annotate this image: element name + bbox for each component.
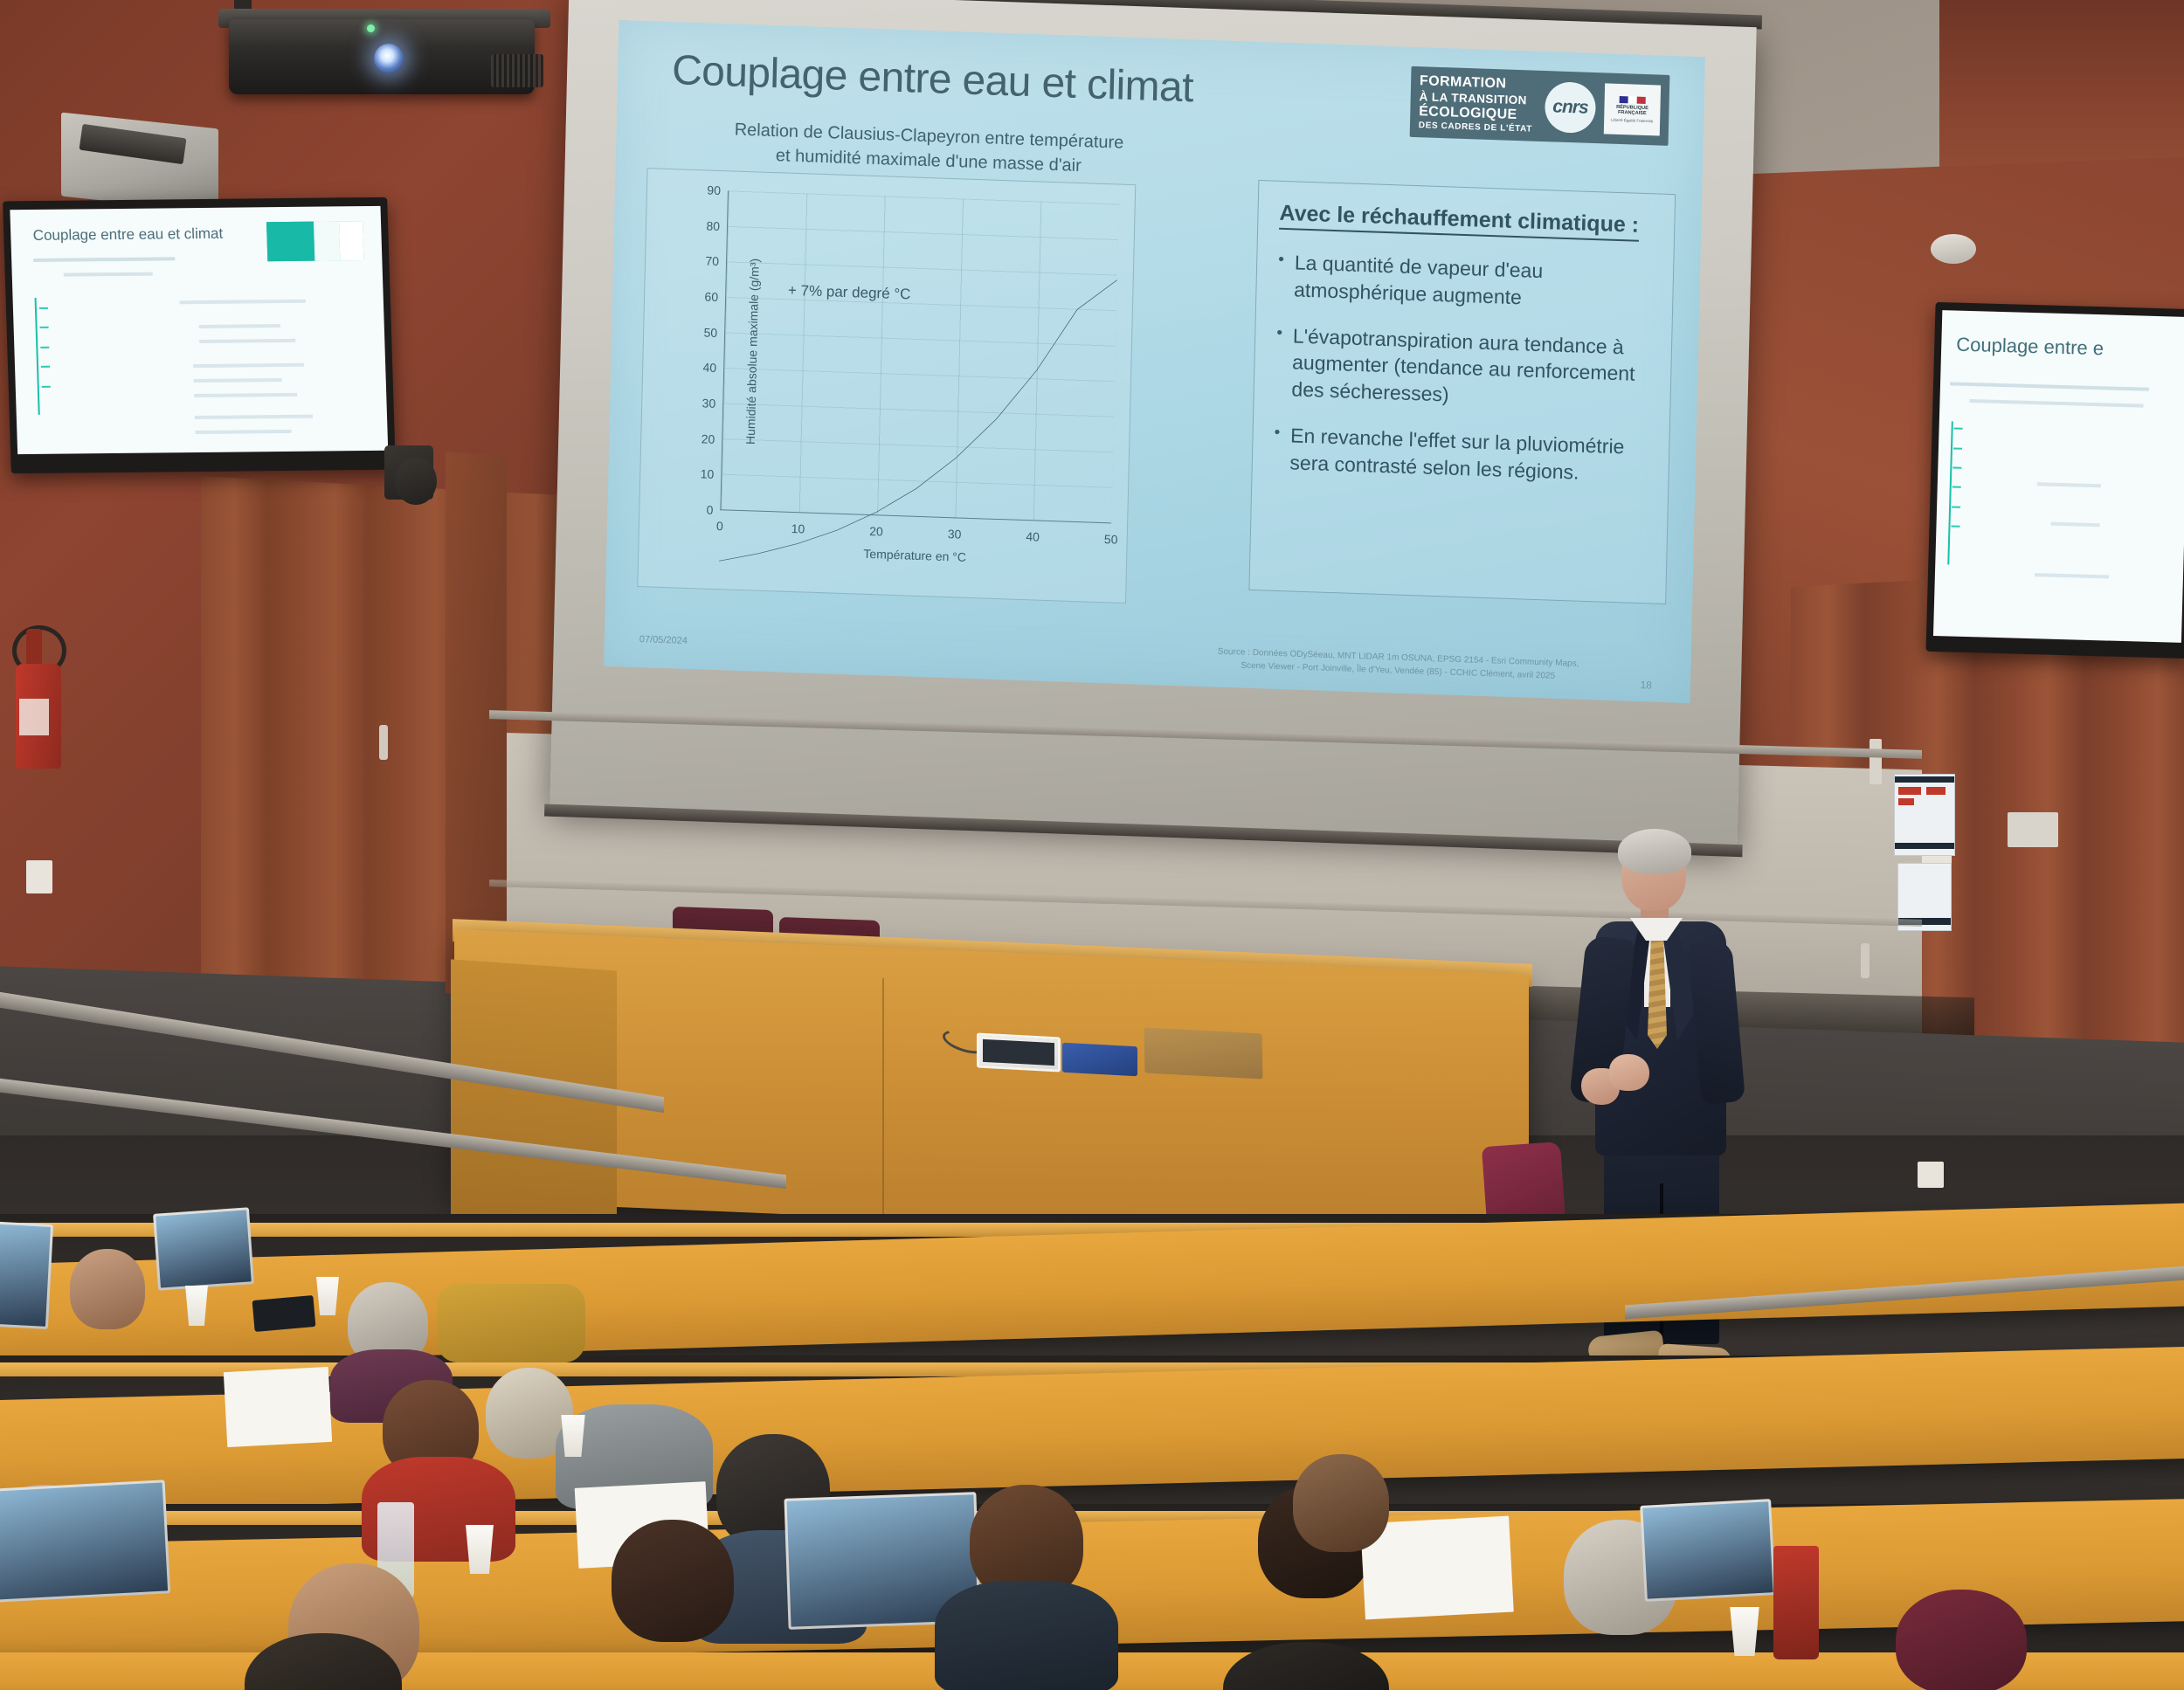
podium-blue-device[interactable] bbox=[1062, 1043, 1137, 1077]
notepad-1 bbox=[224, 1367, 332, 1447]
slide-source-credit: Source : Données ODySéeau, MNT LIDAR 1m … bbox=[1210, 645, 1586, 684]
chart-y-tick: 90 bbox=[707, 183, 721, 197]
side-door[interactable] bbox=[446, 452, 507, 998]
projector-vent-icon bbox=[491, 54, 543, 87]
slide-logo-lockup: FORMATION À LA TRANSITION ÉCOLOGIQUE DES… bbox=[1410, 66, 1670, 147]
chart-y-tick: 40 bbox=[702, 361, 716, 376]
panel-bullet-list: •La quantité de vapeur d'eau atmosphériq… bbox=[1273, 249, 1652, 488]
chart-y-tick: 80 bbox=[706, 218, 720, 233]
audience-laptop-3[interactable] bbox=[0, 1480, 170, 1603]
audience-head-1 bbox=[70, 1249, 145, 1329]
presentation-slide: Couplage entre eau et climat Relation de… bbox=[604, 20, 1705, 703]
chart-inner: Humidité absolue maximale (g/m³) Tempéra… bbox=[720, 190, 1118, 523]
projector-power-led-icon bbox=[367, 24, 375, 32]
french-flag-icon bbox=[1620, 96, 1646, 104]
panel-bullet-item: •L'évapotranspiration aura tendance à au… bbox=[1275, 321, 1650, 415]
monitor-left-chart-axis bbox=[35, 298, 40, 415]
bullet-marker-icon: • bbox=[1275, 321, 1282, 403]
bullet-marker-icon: • bbox=[1277, 249, 1284, 303]
slide-date: 07/05/2024 bbox=[639, 634, 688, 646]
monitor-right-screen: Couplage entre e bbox=[1933, 310, 2184, 643]
presenter-hair bbox=[1618, 829, 1691, 874]
monitor-left-screen: Couplage entre eau et climat bbox=[10, 206, 388, 454]
monitor-left-subtitle-line2 bbox=[64, 272, 153, 276]
audience-head-13 bbox=[1896, 1590, 2027, 1690]
audience-jacket-yellow bbox=[437, 1284, 585, 1362]
bullet-text: La quantité de vapeur d'eau atmosphériqu… bbox=[1294, 249, 1653, 315]
wall-outlet-right-icon bbox=[1918, 1162, 1944, 1188]
extinguisher-label bbox=[19, 699, 49, 735]
projector-lens-icon bbox=[374, 44, 404, 73]
presenter-tie bbox=[1648, 934, 1667, 1049]
phone-1[interactable] bbox=[252, 1295, 316, 1332]
audience-head-11 bbox=[1293, 1454, 1389, 1552]
bullet-text: L'évapotranspiration aura tendance à aug… bbox=[1291, 322, 1650, 415]
presenter-hand-right bbox=[1609, 1054, 1649, 1091]
chart-y-tick: 60 bbox=[704, 289, 718, 304]
audience-laptop-1[interactable] bbox=[153, 1207, 254, 1290]
monitor-left-subtitle-line bbox=[34, 257, 175, 262]
audience-head-8 bbox=[612, 1520, 734, 1642]
podium-seam bbox=[882, 978, 884, 1214]
confidence-monitor-right[interactable]: Couplage entre e bbox=[1925, 302, 2184, 659]
chart-y-tick: 10 bbox=[701, 467, 715, 482]
panel-heading: Avec le réchauffement climatique : bbox=[1279, 201, 1639, 242]
monitor-right-title: Couplage entre e bbox=[1956, 334, 2104, 361]
lecture-hall-scene: Couplage entre eau et climat Couplage e bbox=[0, 0, 2184, 1690]
extinguisher-neck bbox=[26, 629, 42, 667]
rf-motto: Liberté Égalité Fraternité bbox=[1611, 117, 1653, 123]
chart-y-tick: 0 bbox=[706, 503, 713, 517]
slide-title: Couplage entre eau et climat bbox=[672, 46, 1194, 112]
monitor-left-title: Couplage entre eau et climat bbox=[32, 224, 223, 244]
wall-speaker-cone-icon bbox=[395, 458, 437, 505]
audience-laptop-2[interactable] bbox=[0, 1221, 53, 1329]
chart-y-tick: 50 bbox=[703, 325, 717, 340]
door-handle-left-icon[interactable] bbox=[379, 725, 388, 760]
wall-plaque bbox=[2008, 812, 2058, 847]
bullet-text: En revanche l'effet sur la pluviométrie … bbox=[1289, 422, 1648, 488]
wall-sign-strip bbox=[1870, 739, 1882, 784]
panel-bullet-item: •La quantité de vapeur d'eau atmosphériq… bbox=[1277, 249, 1652, 315]
confidence-monitor-left[interactable]: Couplage entre eau et climat bbox=[3, 197, 396, 473]
audience-body-9 bbox=[935, 1581, 1118, 1690]
podium-laptop[interactable] bbox=[1144, 1027, 1263, 1079]
audience-laptop-5[interactable] bbox=[1640, 1499, 1776, 1602]
chart-curve bbox=[718, 190, 1118, 595]
chart-y-tick: 30 bbox=[702, 396, 715, 410]
door-handle-right-icon[interactable] bbox=[1861, 943, 1870, 978]
monitor-left-logo bbox=[266, 221, 364, 261]
republique-francaise-logo-icon: RÉPUBLIQUE FRANÇAISE Liberté Égalité Fra… bbox=[1604, 83, 1661, 135]
slide-page-number: 18 bbox=[1640, 679, 1652, 691]
climate-effects-panel: Avec le réchauffement climatique : •La q… bbox=[1248, 180, 1676, 604]
chart-y-tick: 70 bbox=[705, 254, 719, 269]
podium-tablet[interactable] bbox=[977, 1032, 1061, 1072]
wall-outlet-icon bbox=[26, 860, 52, 893]
rf-title: RÉPUBLIQUE FRANÇAISE bbox=[1604, 104, 1660, 117]
cnrs-logo-icon: cnrs bbox=[1545, 81, 1596, 134]
smoke-detector-icon bbox=[1931, 234, 1976, 264]
clausius-clapeyron-chart: Humidité absolue maximale (g/m³) Tempéra… bbox=[637, 168, 1136, 604]
chart-y-tick: 20 bbox=[702, 431, 715, 446]
formation-logo-text: FORMATION À LA TRANSITION ÉCOLOGIQUE DES… bbox=[1419, 73, 1546, 135]
bullet-marker-icon: • bbox=[1273, 422, 1280, 476]
red-bottle bbox=[1773, 1546, 1819, 1659]
wall-notice-top bbox=[1894, 774, 1955, 856]
panel-bullet-item: •En revanche l'effet sur la pluviométrie… bbox=[1273, 422, 1648, 488]
